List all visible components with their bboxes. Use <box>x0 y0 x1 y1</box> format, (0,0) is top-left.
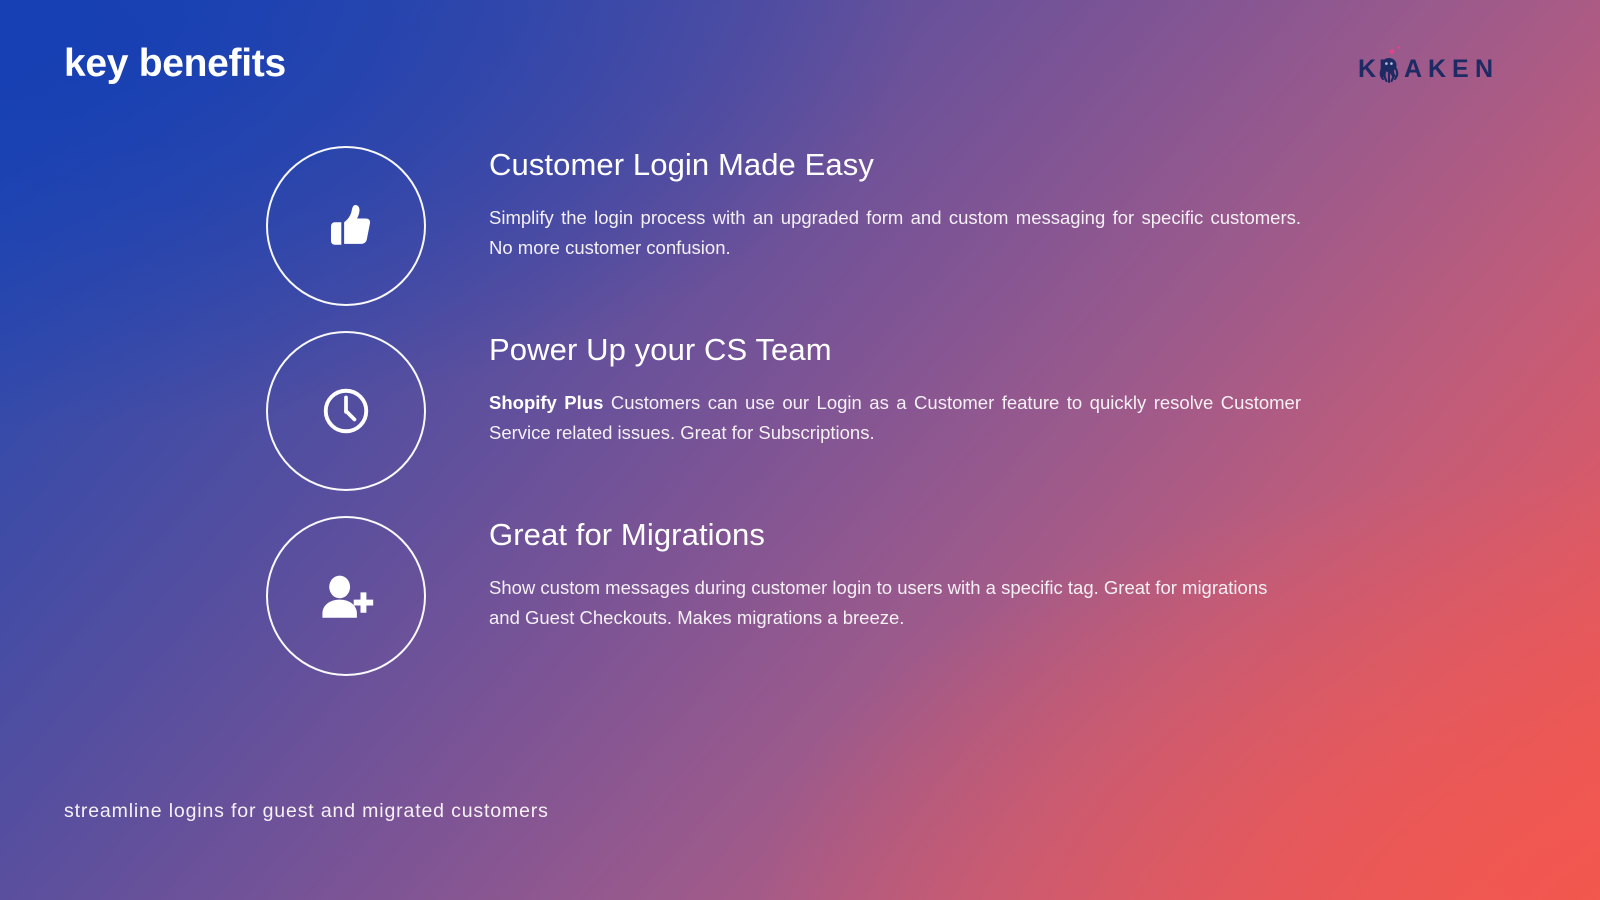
add-user-icon <box>317 567 375 625</box>
benefit-item-2: Power Up your CS Team Shopify Plus Custo… <box>0 331 1600 516</box>
kraken-logo: K R A K E N <box>1358 44 1508 90</box>
benefit-heading-1: Customer Login Made Easy <box>489 146 1301 183</box>
slide-canvas: key benefits K R A K E N <box>0 0 1600 900</box>
benefit-text-3: Great for Migrations Show custom message… <box>489 516 1301 633</box>
logo-letter-a: A <box>1404 55 1424 83</box>
benefit-item-3: Great for Migrations Show custom message… <box>0 516 1600 701</box>
footer-note: streamline logins for guest and migrated… <box>64 800 549 823</box>
benefit-text-1: Customer Login Made Easy Simplify the lo… <box>489 146 1301 263</box>
benefit-heading-3: Great for Migrations <box>489 516 1301 553</box>
benefit-body-text-3: Show custom messages during customer log… <box>489 577 1267 628</box>
benefit-body-text-2: Customers can use our Login as a Custome… <box>489 392 1301 443</box>
logo-accent-dot-small <box>1398 46 1400 48</box>
logo-letter-k1: K <box>1358 55 1378 83</box>
benefits-list: Customer Login Made Easy Simplify the lo… <box>0 146 1600 701</box>
benefit-text-2: Power Up your CS Team Shopify Plus Custo… <box>489 331 1301 448</box>
benefit-icon-circle-2 <box>266 331 426 491</box>
logo-letter-e: E <box>1452 55 1471 83</box>
logo-accent-dot-large <box>1390 49 1395 54</box>
logo-letter-n: N <box>1475 55 1495 83</box>
benefit-icon-circle-1 <box>266 146 426 306</box>
benefit-item-1: Customer Login Made Easy Simplify the lo… <box>0 146 1600 331</box>
benefit-body-3: Show custom messages during customer log… <box>489 573 1301 633</box>
benefit-body-1: Simplify the login process with an upgra… <box>489 203 1301 263</box>
benefit-body-lead-2: Shopify Plus <box>489 392 603 413</box>
benefit-icon-circle-3 <box>266 516 426 676</box>
page-title: key benefits <box>64 42 286 87</box>
clock-icon <box>319 384 373 438</box>
benefit-body-2: Shopify Plus Customers can use our Login… <box>489 388 1301 448</box>
logo-letter-k2: K <box>1428 55 1448 83</box>
benefit-body-text-1: Simplify the login process with an upgra… <box>489 207 1301 258</box>
thumbs-up-icon <box>316 196 376 256</box>
benefit-heading-2: Power Up your CS Team <box>489 331 1301 368</box>
